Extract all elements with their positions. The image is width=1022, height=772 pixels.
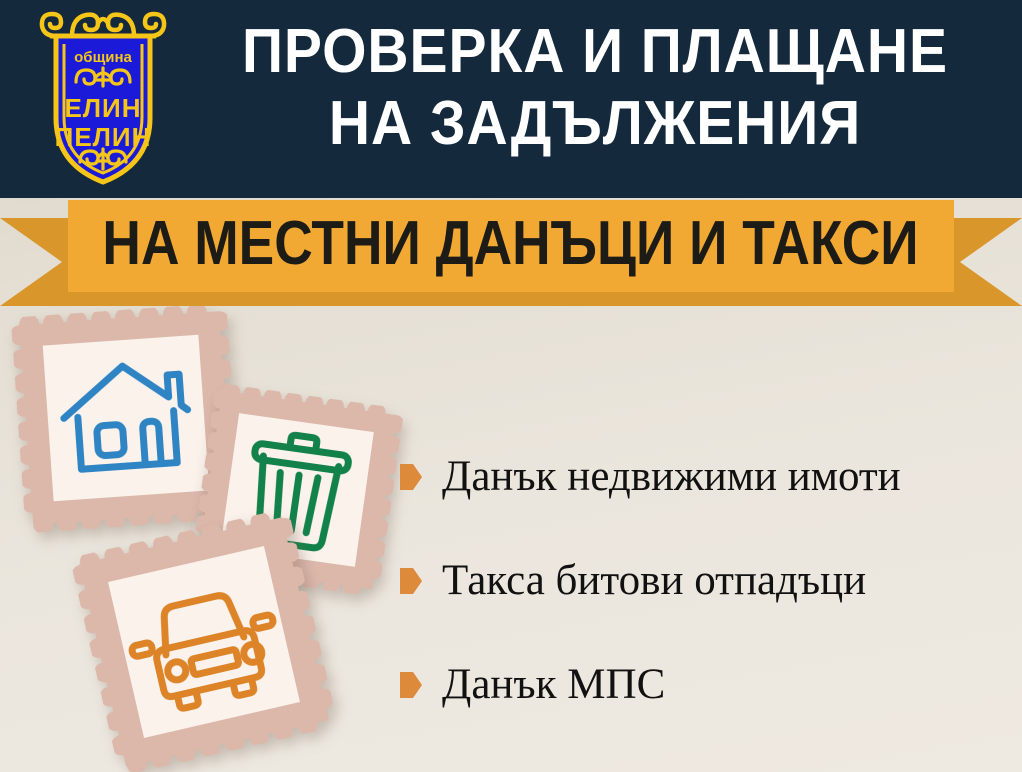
list-item[interactable]: Такса битови отпадъци <box>400 529 1010 633</box>
ribbon-banner: НА МЕСТНИ ДАНЪЦИ И ТАКСИ <box>0 196 1022 316</box>
list-item-label: Данък МПС <box>442 660 665 710</box>
ribbon-main-panel: НА МЕСТНИ ДАНЪЦИ И ТАКСИ <box>68 200 954 292</box>
svg-text:ЕЛИН: ЕЛИН <box>64 93 141 123</box>
list-item-label: Такса битови отпадъци <box>442 556 866 606</box>
municipality-crest-logo: община ЕЛИН ПЕЛИН <box>28 6 178 190</box>
svg-text:община: община <box>74 49 132 66</box>
list-item[interactable]: Данък МПС <box>400 633 1010 737</box>
list-item[interactable]: Данък недвижими имоти <box>400 425 1010 529</box>
page-title: ПРОВЕРКА И ПЛАЩАНЕ НА ЗАДЪЛЖЕНИЯ <box>213 16 977 160</box>
arrow-bullet-icon <box>400 568 422 594</box>
arrow-bullet-icon <box>400 672 422 698</box>
tax-type-list: Данък недвижими имоти Такса битови отпад… <box>400 425 1010 737</box>
poster-canvas: ПРОВЕРКА И ПЛАЩАНЕ НА ЗАДЪЛЖЕНИЯ община <box>0 0 1022 772</box>
ribbon-label: НА МЕСТНИ ДАНЪЦИ И ТАКСИ <box>103 213 919 279</box>
arrow-bullet-icon <box>400 464 422 490</box>
list-item-label: Данък недвижими имоти <box>442 452 901 502</box>
